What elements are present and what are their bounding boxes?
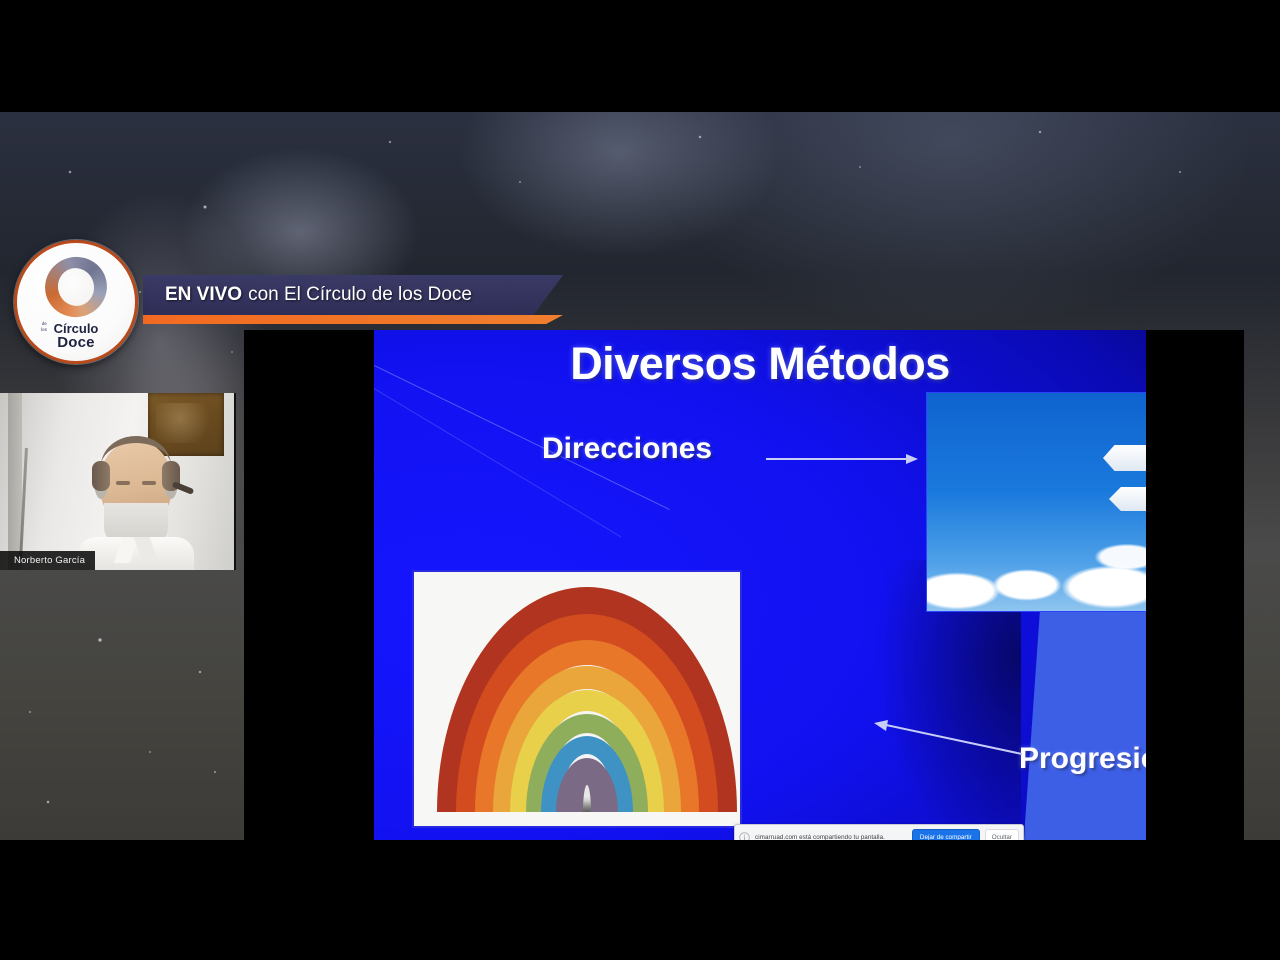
rainbow-arcs <box>414 580 742 812</box>
arrow-right-icon <box>766 452 918 466</box>
eye-right <box>142 481 156 485</box>
live-banner-strong: EN VIVO <box>165 284 242 306</box>
eye-left <box>116 481 130 485</box>
broadcast-stage: Diversos Métodos Direcciones Progresione… <box>0 0 1280 960</box>
logo-word-delos: delos <box>41 321 47 332</box>
headphone-cup-left <box>92 461 110 491</box>
signpost-image <box>926 392 1146 612</box>
cloud-lower <box>926 545 1146 612</box>
rainbow-image <box>412 570 742 828</box>
live-banner-accent-bar <box>143 315 563 324</box>
info-icon <box>739 832 750 841</box>
logo-ring-icon <box>38 250 114 325</box>
channel-logo: Círculo Doce delos <box>14 240 138 364</box>
shared-screen-area: Diversos Métodos Direcciones Progresione… <box>244 330 1244 840</box>
video-frame: Diversos Métodos Direcciones Progresione… <box>0 112 1280 840</box>
live-banner-text: EN VIVO con El Círculo de los Doce <box>165 275 472 315</box>
letterbox-top <box>0 0 1280 112</box>
webcam-tile[interactable]: Norberto García <box>0 393 236 570</box>
live-banner-rest: con El Círculo de los Doce <box>248 284 472 306</box>
headphone-band <box>101 436 171 466</box>
live-banner: EN VIVO con El Círculo de los Doce <box>143 275 563 315</box>
slide-label-progresiones: Progresiones <box>1019 742 1146 776</box>
slide-title: Diversos Métodos <box>374 338 1146 390</box>
stop-sharing-button[interactable]: Dejar de compartir <box>912 829 980 841</box>
presentation-slide: Diversos Métodos Direcciones Progresione… <box>374 330 1146 840</box>
logo-word-doce: Doce <box>57 335 94 351</box>
hide-notification-button[interactable]: Ocultar <box>985 829 1019 841</box>
participant-name-label: Norberto García <box>0 551 95 570</box>
letterbox-bottom <box>0 840 1280 960</box>
slide-label-direcciones: Direcciones <box>542 432 712 466</box>
screen-share-notification[interactable]: cimarruad.com está compartiendo tu panta… <box>734 824 1024 840</box>
arrow-left-icon <box>874 720 1022 756</box>
